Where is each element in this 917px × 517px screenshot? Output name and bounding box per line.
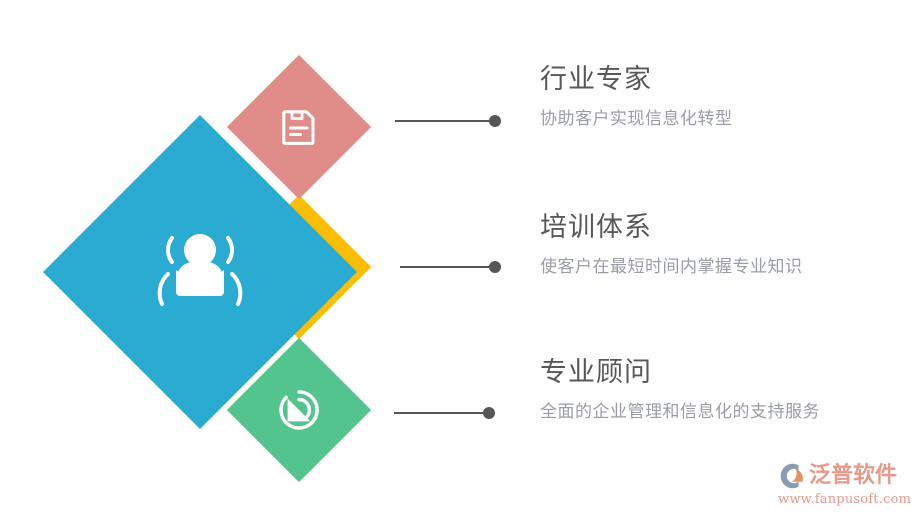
feature-block-training: 培训体系 使客户在最短时间内掌握专业知识	[540, 208, 900, 282]
logo-url: www.fanpusoft.com	[778, 492, 910, 508]
feature-block-expert: 行业专家 协助客户实现信息化转型	[540, 60, 900, 134]
slide-canvas: 行业专家 协助客户实现信息化转型 培训体系 使客户在最短时间内掌握专业知识 专业…	[0, 0, 917, 517]
brand-logo[interactable]: 泛普软件 www.fanpusoft.com	[778, 461, 910, 509]
feature-block-consultant: 专业顾问 全面的企业管理和信息化的支持服务	[540, 353, 900, 427]
feature-title: 专业顾问	[540, 353, 900, 391]
fanpu-swoosh-icon	[778, 462, 808, 490]
logo-wordmark: 泛普软件	[809, 462, 897, 490]
feature-description: 协助客户实现信息化转型	[540, 104, 900, 134]
connector-dot	[489, 115, 501, 127]
diamond-cluster	[0, 0, 420, 517]
connector-line-3	[394, 406, 495, 420]
feature-description: 全面的企业管理和信息化的支持服务	[540, 397, 900, 427]
logo-row: 泛普软件	[778, 461, 910, 491]
feature-title: 培训体系	[540, 208, 900, 246]
feature-description: 使客户在最短时间内掌握专业知识	[540, 252, 900, 282]
users-icon	[89, 161, 311, 383]
connector-line-stroke	[400, 266, 490, 268]
connector-dot	[489, 261, 501, 273]
connector-dot	[483, 407, 495, 419]
connector-line-2	[400, 260, 501, 274]
connector-line-stroke	[395, 120, 490, 122]
connector-line-stroke	[394, 412, 484, 414]
feature-title: 行业专家	[540, 60, 900, 98]
connector-line-1	[395, 114, 501, 128]
diamond-main[interactable]	[43, 115, 357, 429]
